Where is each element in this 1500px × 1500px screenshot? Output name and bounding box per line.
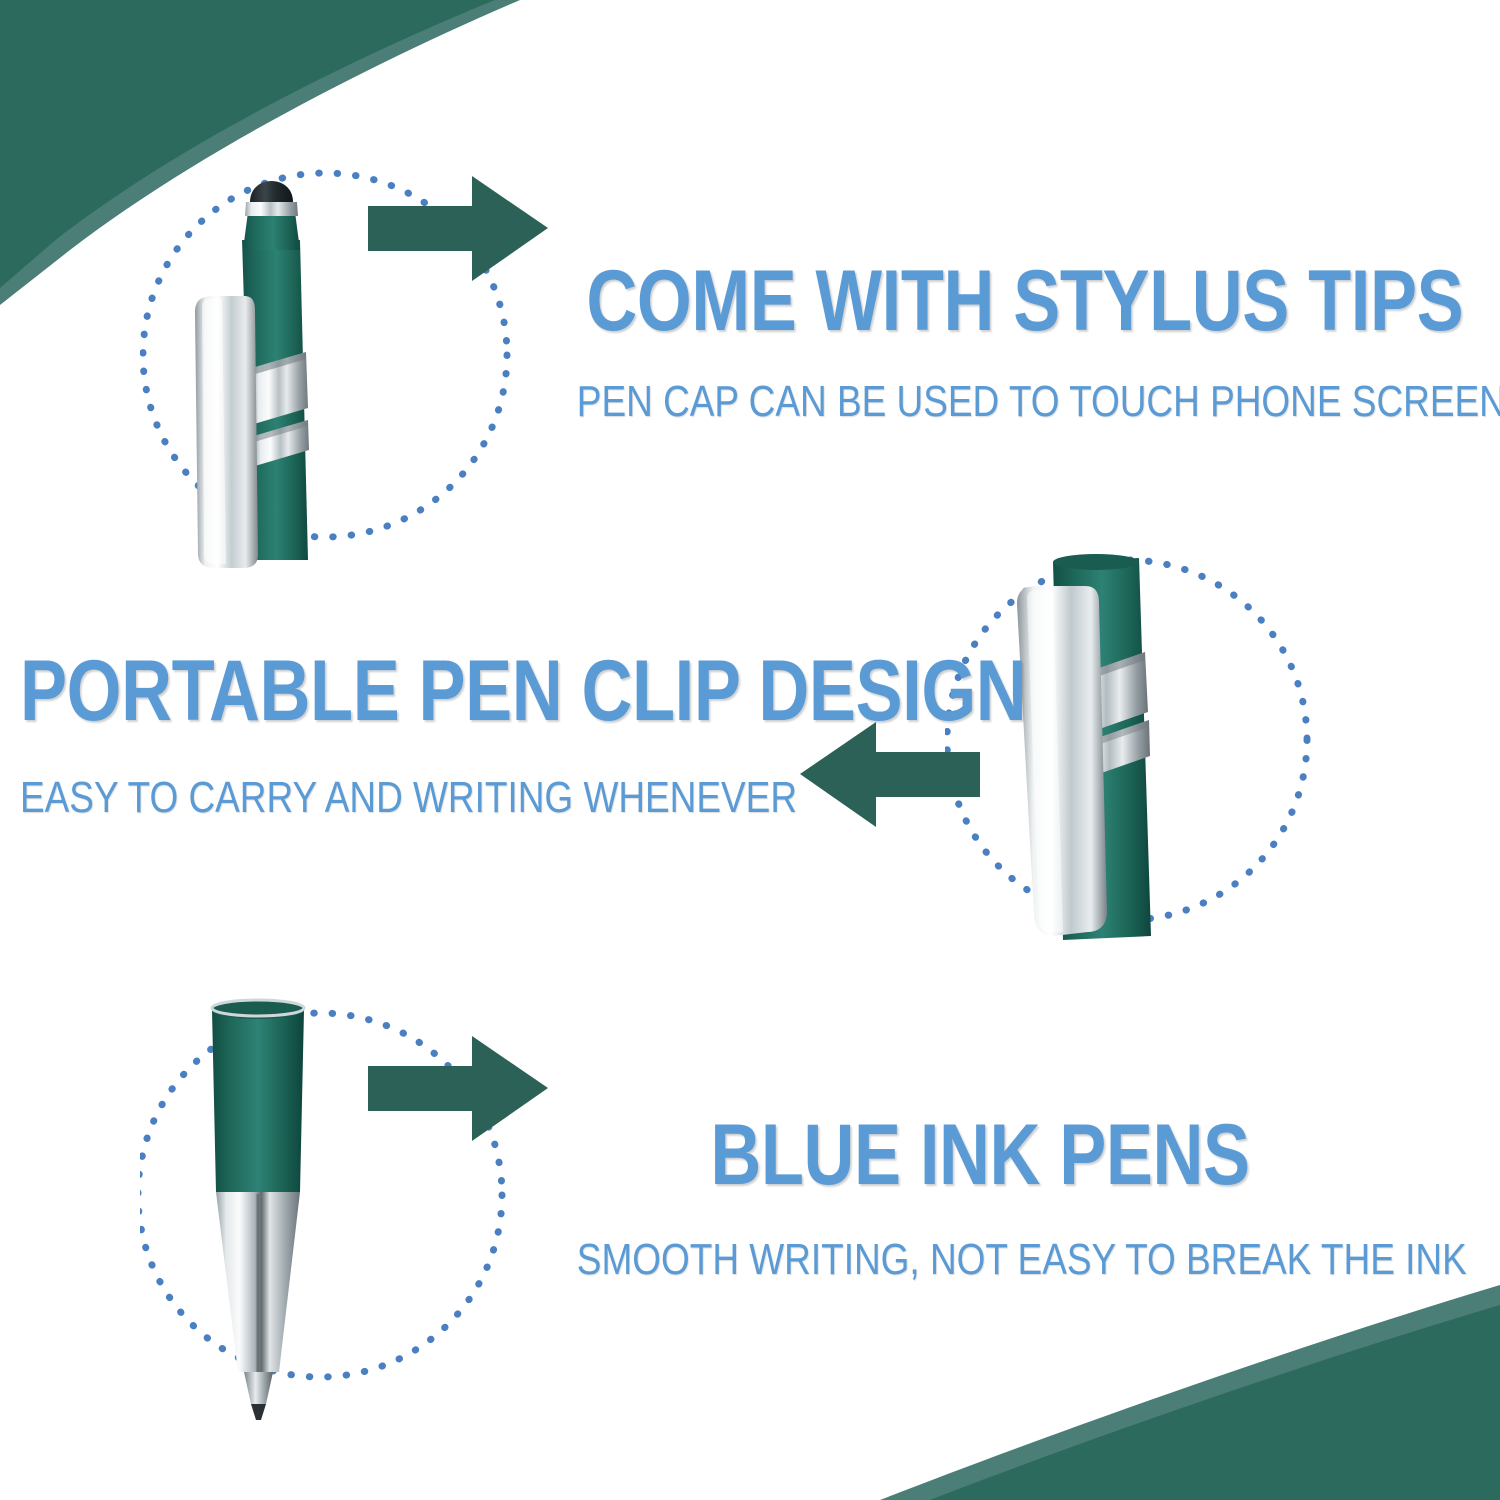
feature-1-text: COME WITH STYLUS TIPS PEN CAP CAN BE USE…	[500, 258, 1460, 424]
feature-3-headline: BLUE INK PENS	[586, 1112, 1373, 1198]
feature-2-subline: EASY TO CARRY AND WRITING WHENEVER	[20, 776, 726, 820]
bottom-right-swoosh-icon	[880, 1285, 1500, 1500]
illustration-pen-barrel-with-metal-clip	[945, 540, 1345, 960]
feature-1-subline: PEN CAP CAN BE USED TO TOUCH PHONE SCREE…	[577, 380, 1383, 424]
feature-1-headline: COME WITH STYLUS TIPS	[586, 258, 1373, 344]
feature-2-text: PORTABLE PEN CLIP DESIGN EASY TO CARRY A…	[20, 648, 860, 820]
feature-2-headline: PORTABLE PEN CLIP DESIGN	[20, 648, 709, 734]
infographic-canvas: COME WITH STYLUS TIPS PEN CAP CAN BE USE…	[0, 0, 1500, 1500]
feature-3-text: BLUE INK PENS SMOOTH WRITING, NOT EASY T…	[500, 1112, 1460, 1282]
feature-3-subline: SMOOTH WRITING, NOT EASY TO BREAK THE IN…	[577, 1238, 1383, 1282]
